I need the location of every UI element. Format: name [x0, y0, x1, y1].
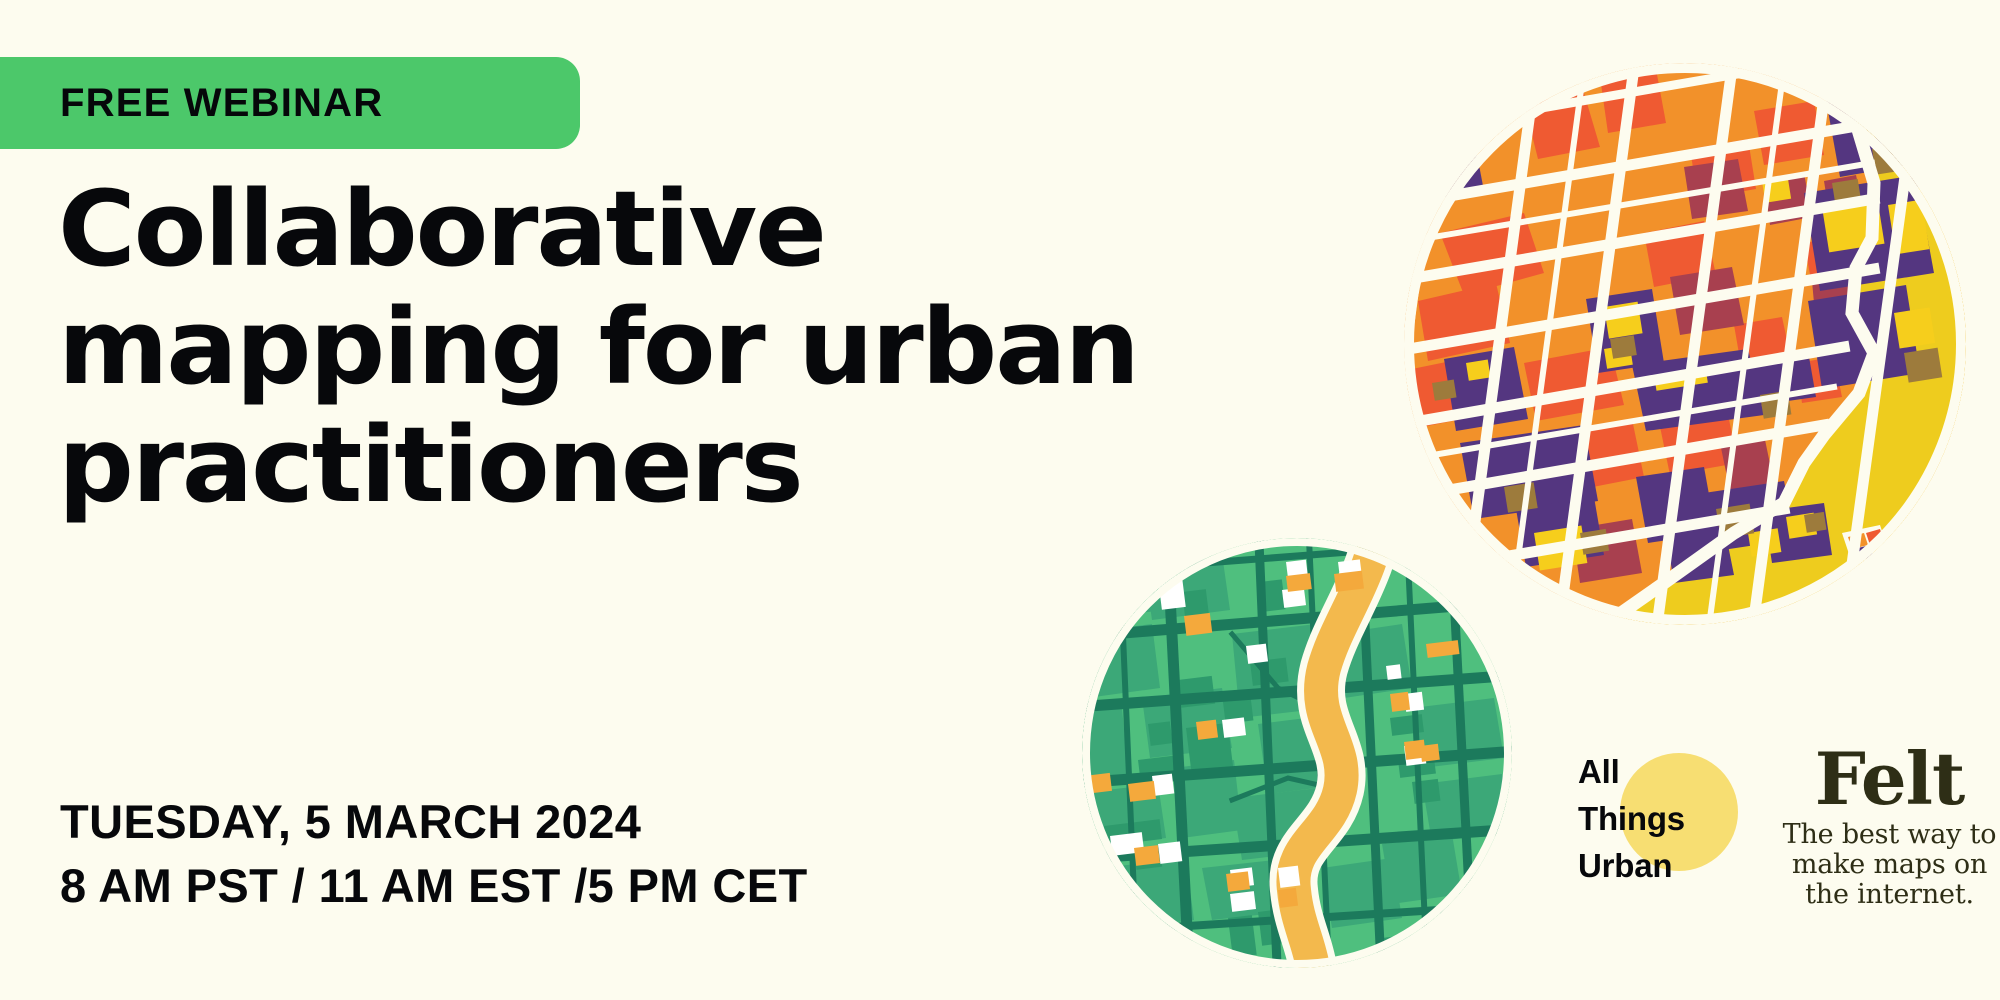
felt-wordmark: Felt: [1782, 742, 1997, 816]
free-webinar-badge-label: FREE WEBINAR: [60, 83, 383, 123]
green-parcel-map-circle: [1082, 538, 1512, 968]
event-date: TUESDAY, 5 MARCH 2024: [60, 790, 808, 854]
page-title: Collaborative mapping for urban practiti…: [58, 170, 1178, 524]
atu-line-2: Things: [1578, 795, 1768, 842]
orange-map-illustration: [1404, 63, 1966, 625]
felt-tagline: The best way to make maps on the interne…: [1782, 820, 1997, 910]
felt-tagline-line-1: The best way to: [1782, 820, 1997, 850]
felt-tagline-line-3: the internet.: [1782, 880, 1997, 910]
event-details: TUESDAY, 5 MARCH 2024 8 AM PST / 11 AM E…: [60, 790, 808, 918]
felt-logo: Felt The best way to make maps on the in…: [1782, 742, 1997, 910]
green-map-illustration: [1082, 538, 1512, 968]
webinar-promo-poster: FREE WEBINAR Collaborative mapping for u…: [0, 0, 2000, 1000]
headline-line-1: Collaborative: [58, 170, 1200, 288]
atu-line-1: All: [1578, 748, 1768, 795]
atu-line-3: Urban: [1578, 842, 1768, 889]
event-time: 8 AM PST / 11 AM EST /5 PM CET: [60, 854, 808, 918]
all-things-urban-logo: All Things Urban: [1578, 748, 1768, 918]
all-things-urban-wordmark: All Things Urban: [1578, 748, 1768, 889]
headline-line-3: practitioners: [58, 406, 1200, 524]
free-webinar-badge: FREE WEBINAR: [0, 57, 580, 149]
headline-line-2: mapping for urban: [58, 288, 1200, 406]
felt-tagline-line-2: make maps on: [1782, 850, 1997, 880]
orange-city-map-circle: [1404, 63, 1966, 625]
